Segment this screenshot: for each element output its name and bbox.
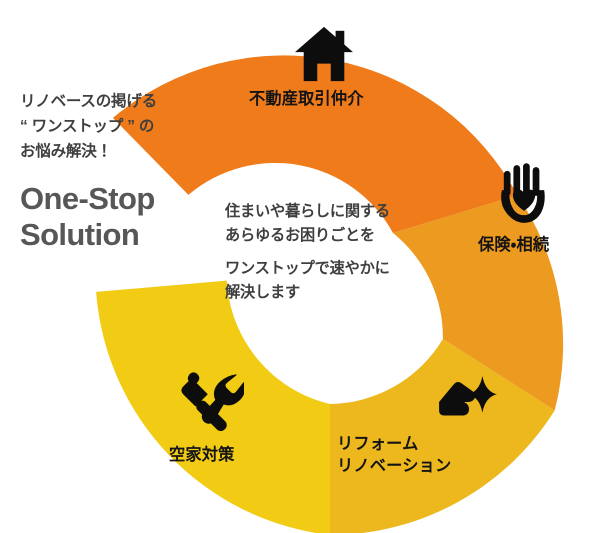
center-line-1: 住まいや暮らしに関する	[225, 200, 450, 224]
hand-heart-icon	[499, 163, 549, 225]
house-sparkle-icon	[436, 376, 498, 428]
lead-line-2: “ ワンストップ ” の	[20, 114, 206, 139]
center-copy-spacer	[225, 247, 450, 257]
center-copy-block: 住まいや暮らしに関する あらゆるお困りごとを ワンストップで速やかに 解決します	[225, 200, 450, 304]
segment-label-vacant-house: 空家対策	[169, 444, 235, 466]
house-icon	[293, 25, 355, 83]
segment-label-line: リフォーム	[337, 433, 451, 455]
headline: One-Stop Solution	[20, 181, 206, 253]
center-line-2: あらゆるお困りごとを	[225, 224, 450, 248]
segment-label-reform: リフォーム リノベーション	[337, 433, 451, 478]
segment-label-line: 保険・相続	[478, 234, 549, 256]
headline-line-1: One-Stop	[20, 181, 206, 217]
one-stop-solution-figure: 不動産取引仲介 保険・相続 リフォーム リノベーション 空家対策 リノベースの掲…	[0, 0, 600, 533]
hammer-wrench-icon	[176, 371, 244, 431]
segment-label-line: リノベーション	[337, 455, 451, 477]
segment-label-line: 空家対策	[169, 444, 235, 466]
center-line-4: 解決します	[225, 281, 450, 305]
lead-line-3: お悩み解決！	[20, 139, 206, 164]
headline-line-2: Solution	[20, 217, 206, 253]
lead-line-1: リノベースの掲げる	[20, 89, 206, 114]
segment-label-insurance: 保険・相続	[478, 234, 549, 256]
segment-label-real-estate: 不動産取引仲介	[249, 88, 364, 110]
segment-label-line: 不動産取引仲介	[249, 88, 364, 110]
left-copy-block: リノベースの掲げる “ ワンストップ ” の お悩み解決！ One-Stop S…	[20, 89, 206, 253]
center-line-3: ワンストップで速やかに	[225, 257, 450, 281]
